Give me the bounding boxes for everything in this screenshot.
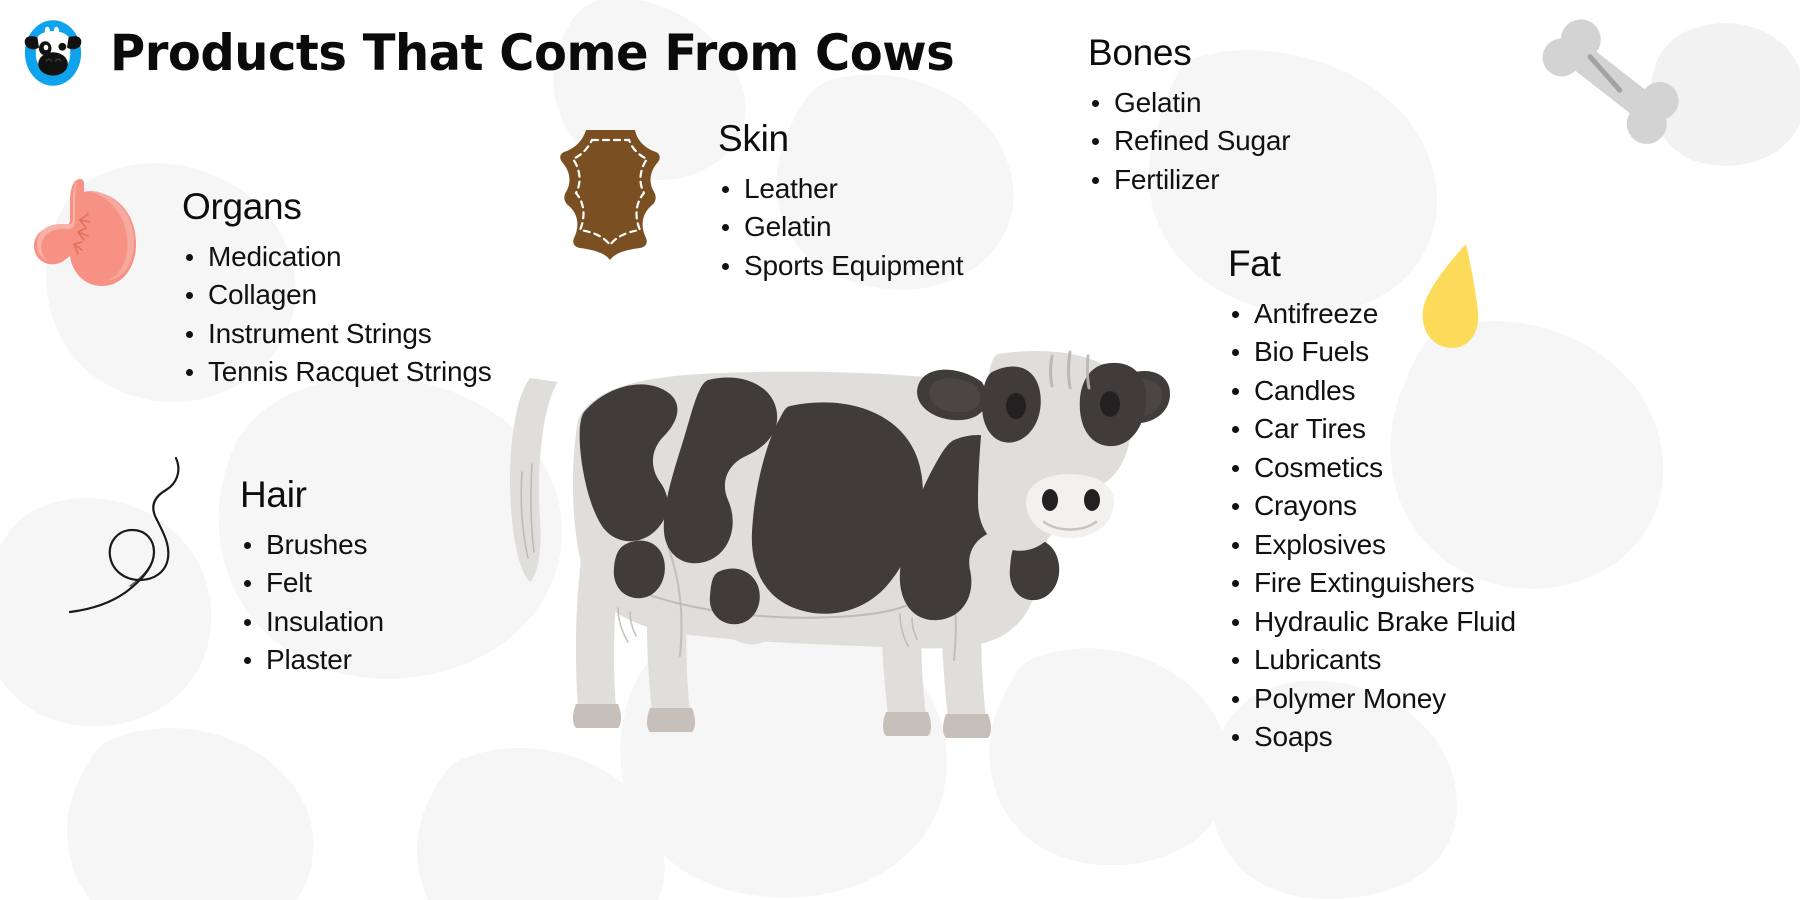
- list-item: Fire Extinguishers: [1228, 564, 1516, 603]
- list-item: Tennis Racquet Strings: [182, 353, 492, 392]
- list-item: Medication: [182, 238, 492, 277]
- list-item: Brushes: [240, 526, 384, 565]
- section-fat-list: Antifreeze Bio Fuels Candles Car Tires C…: [1228, 295, 1516, 757]
- curly-hair-strand-icon: [58, 440, 208, 620]
- list-item: Gelatin: [1088, 84, 1290, 123]
- section-skin: Skin Leather Gelatin Sports Equipment: [718, 120, 963, 285]
- list-item: Car Tires: [1228, 410, 1516, 449]
- section-hair-list: Brushes Felt Insulation Plaster: [240, 526, 384, 680]
- section-fat: Fat Antifreeze Bio Fuels Candles Car Tir…: [1228, 245, 1516, 757]
- cow-head-logo-icon: [14, 14, 92, 92]
- section-bones-title: Bones: [1088, 34, 1290, 73]
- list-item: Gelatin: [718, 208, 963, 247]
- leather-hide-icon: [548, 126, 673, 261]
- section-organs: Organs Medication Collagen Instrument St…: [182, 188, 492, 392]
- section-fat-title: Fat: [1228, 245, 1516, 284]
- section-hair-title: Hair: [240, 476, 384, 515]
- section-skin-title: Skin: [718, 120, 963, 159]
- page-title: Products That Come From Cows: [110, 24, 954, 82]
- list-item: Insulation: [240, 603, 384, 642]
- section-bones: Bones Gelatin Refined Sugar Fertilizer: [1088, 34, 1290, 199]
- page-header: Products That Come From Cows: [14, 14, 989, 92]
- section-organs-list: Medication Collagen Instrument Strings T…: [182, 238, 492, 392]
- list-item: Bio Fuels: [1228, 333, 1516, 372]
- list-item: Crayons: [1228, 487, 1516, 526]
- section-skin-list: Leather Gelatin Sports Equipment: [718, 170, 963, 286]
- list-item: Fertilizer: [1088, 161, 1290, 200]
- section-hair: Hair Brushes Felt Insulation Plaster: [240, 476, 384, 680]
- list-item: Soaps: [1228, 718, 1516, 757]
- list-item: Plaster: [240, 641, 384, 680]
- list-item: Explosives: [1228, 526, 1516, 565]
- holstein-cow-illustration: [470, 320, 1170, 770]
- list-item: Instrument Strings: [182, 315, 492, 354]
- section-organs-title: Organs: [182, 188, 492, 227]
- list-item: Refined Sugar: [1088, 122, 1290, 161]
- section-bones-list: Gelatin Refined Sugar Fertilizer: [1088, 84, 1290, 200]
- list-item: Polymer Money: [1228, 680, 1516, 719]
- list-item: Felt: [240, 564, 384, 603]
- list-item: Lubricants: [1228, 641, 1516, 680]
- list-item: Hydraulic Brake Fluid: [1228, 603, 1516, 642]
- bone-icon: [1528, 8, 1693, 153]
- list-item: Collagen: [182, 276, 492, 315]
- list-item: Leather: [718, 170, 963, 209]
- stomach-icon: [22, 168, 152, 298]
- list-item: Cosmetics: [1228, 449, 1516, 488]
- list-item: Antifreeze: [1228, 295, 1516, 334]
- list-item: Sports Equipment: [718, 247, 963, 286]
- list-item: Candles: [1228, 372, 1516, 411]
